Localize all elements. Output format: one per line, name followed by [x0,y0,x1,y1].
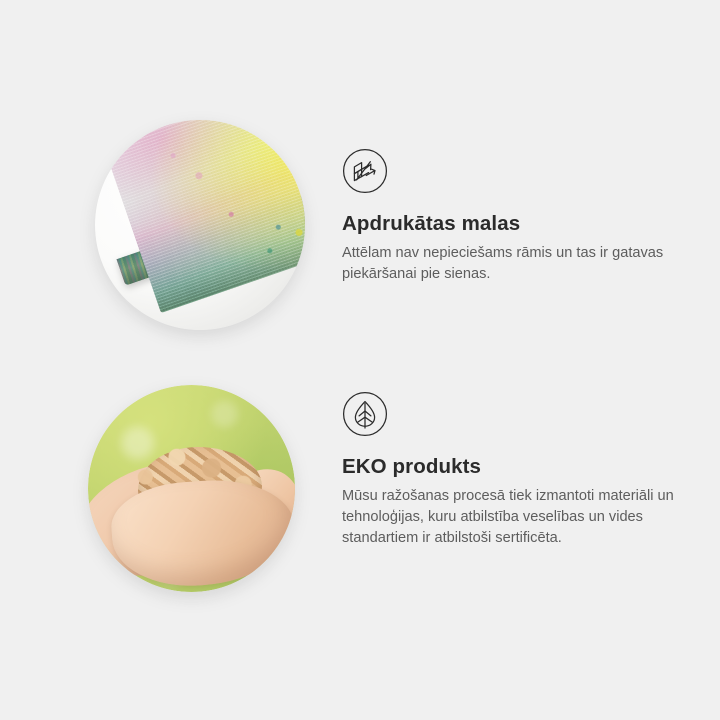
feature-description: Attēlam nav nepieciešams rāmis un tas ir… [342,243,684,285]
leaf-icon [342,391,388,437]
canvas-artwork [95,120,305,330]
canvas-wrapped-edges-icon [342,148,388,194]
canvas-corner-photo [95,120,305,330]
feature-title: Apdrukātas malas [342,212,692,237]
hands-wood-chips-photo [88,385,295,592]
feature-title: EKO produkts [342,455,692,480]
eko-product-text-column: EKO produkts Mūsu ražošanas procesā tiek… [342,391,692,549]
feature-description: Mūsu ražošanas procesā tiek izmantoti ma… [342,486,684,549]
product-features-page: Apdrukātas malas Attēlam nav nepieciešam… [0,0,720,720]
printed-edges-text-column: Apdrukātas malas Attēlam nav nepieciešam… [342,148,692,285]
